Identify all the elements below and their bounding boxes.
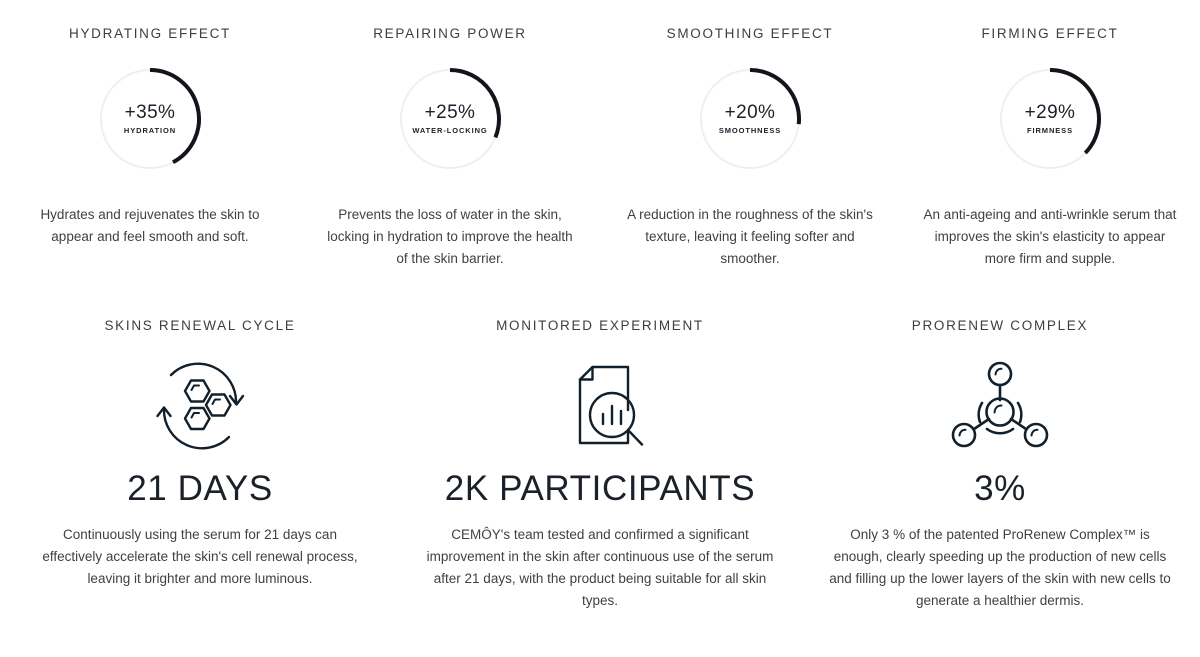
feature-row: SKINS RENEWAL CYCLE <box>0 318 1200 612</box>
stat-metric-label: HYDRATION <box>124 127 176 135</box>
feature-big-value: 21 DAYS <box>127 470 273 509</box>
feature-card-skins-renewal-cycle: SKINS RENEWAL CYCLE <box>0 318 400 612</box>
stat-metric-label: SMOOTHNESS <box>719 127 781 135</box>
feature-description: CEMÔY's team tested and confirmed a sign… <box>426 524 774 611</box>
feature-card-prorenew-complex: PRORENEW COMPLEX <box>800 318 1200 612</box>
ring-center-text: +29% FIRMNESS <box>995 64 1105 174</box>
stat-heading: REPAIRING POWER <box>373 26 527 42</box>
stats-row: HYDRATING EFFECT +35% HYDRATION Hydrates… <box>0 0 1200 270</box>
feature-heading: SKINS RENEWAL CYCLE <box>104 318 295 334</box>
feature-big-value: 3% <box>974 470 1026 509</box>
document-analysis-icon <box>540 356 660 456</box>
stat-card-hydrating-effect: HYDRATING EFFECT +35% HYDRATION Hydrates… <box>0 26 300 270</box>
feature-heading: PRORENEW COMPLEX <box>912 318 1088 334</box>
stat-heading: FIRMING EFFECT <box>981 26 1118 42</box>
stat-description: A reduction in the roughness of the skin… <box>621 204 879 270</box>
stat-value: +20% <box>725 103 776 122</box>
stat-description: Hydrates and rejuvenates the skin to app… <box>21 204 279 248</box>
feature-description: Continuously using the serum for 21 days… <box>35 524 365 590</box>
molecule-icon <box>940 356 1060 456</box>
benefits-infographic: HYDRATING EFFECT +35% HYDRATION Hydrates… <box>0 0 1200 657</box>
stat-description: An anti-ageing and anti-wrinkle serum th… <box>921 204 1179 270</box>
stat-metric-label: FIRMNESS <box>1027 127 1073 135</box>
feature-description: Only 3 % of the patented ProRenew Comple… <box>826 524 1174 611</box>
feature-big-value: 2K PARTICIPANTS <box>445 470 755 509</box>
stat-card-repairing-power: REPAIRING POWER +25% WATER-LOCKING Preve… <box>300 26 600 270</box>
stat-card-smoothing-effect: SMOOTHING EFFECT +20% SMOOTHNESS A reduc… <box>600 26 900 270</box>
stat-heading: SMOOTHING EFFECT <box>667 26 834 42</box>
stat-value: +29% <box>1025 103 1076 122</box>
progress-ring-hydration: +35% HYDRATION <box>95 64 205 174</box>
progress-ring-water-locking: +25% WATER-LOCKING <box>395 64 505 174</box>
stat-value: +35% <box>125 103 176 122</box>
ring-center-text: +35% HYDRATION <box>95 64 205 174</box>
feature-card-monitored-experiment: MONITORED EXPERIMENT <box>400 318 800 612</box>
stat-metric-label: WATER-LOCKING <box>412 127 487 135</box>
stat-card-firming-effect: FIRMING EFFECT +29% FIRMNESS An anti-age… <box>900 26 1200 270</box>
stat-value: +25% <box>425 103 476 122</box>
ring-center-text: +25% WATER-LOCKING <box>395 64 505 174</box>
stat-heading: HYDRATING EFFECT <box>69 26 231 42</box>
progress-ring-firmness: +29% FIRMNESS <box>995 64 1105 174</box>
stat-description: Prevents the loss of water in the skin, … <box>321 204 579 270</box>
cell-renewal-cycle-icon <box>140 356 260 456</box>
feature-heading: MONITORED EXPERIMENT <box>496 318 704 334</box>
ring-center-text: +20% SMOOTHNESS <box>695 64 805 174</box>
progress-ring-smoothness: +20% SMOOTHNESS <box>695 64 805 174</box>
